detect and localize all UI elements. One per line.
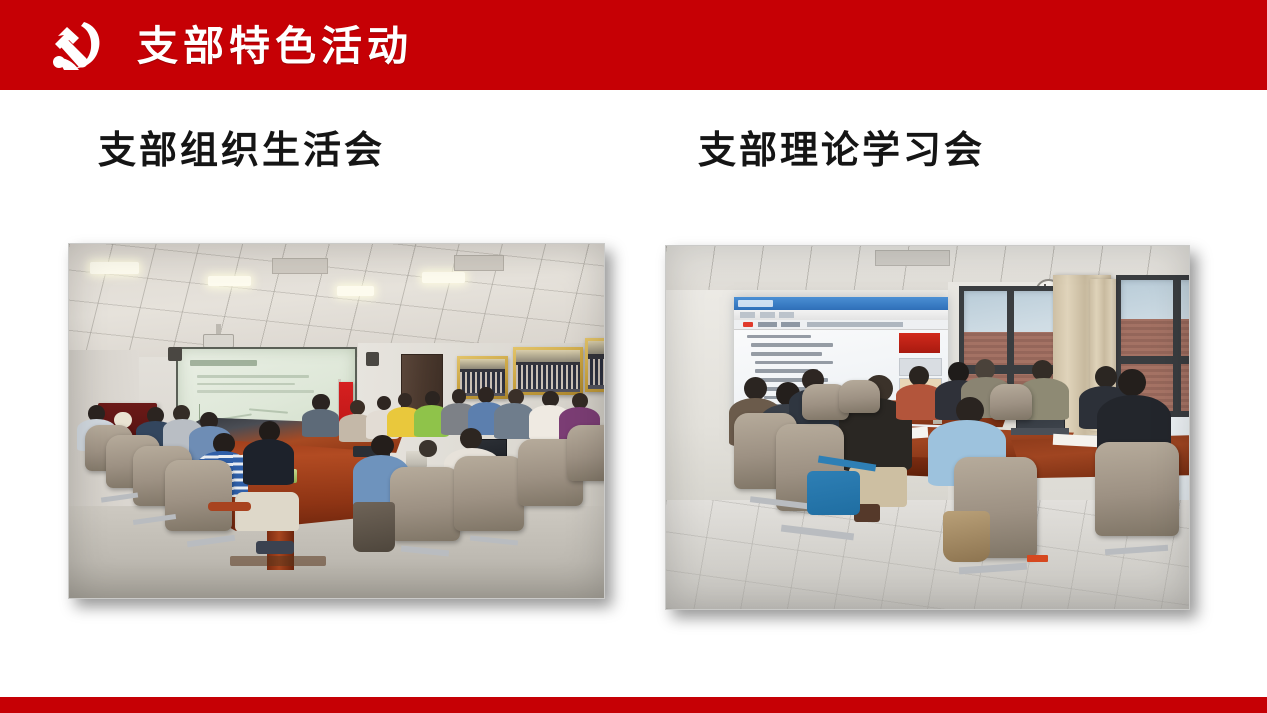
caption-left: 支部组织生活会 [98, 126, 385, 174]
slide-root: 支部特色活动 支部组织生活会 支部理论学习会 [0, 0, 1267, 713]
branch-organizational-life-meeting-photo [68, 243, 605, 599]
branch-theory-study-meeting-photo [665, 245, 1190, 610]
footer-bar [0, 697, 1267, 713]
page-title: 支部特色活动 [137, 18, 413, 74]
caption-right: 支部理论学习会 [698, 126, 985, 174]
header-bar: 支部特色活动 [0, 0, 1267, 90]
hammer-and-sickle-emblem [46, 20, 106, 72]
